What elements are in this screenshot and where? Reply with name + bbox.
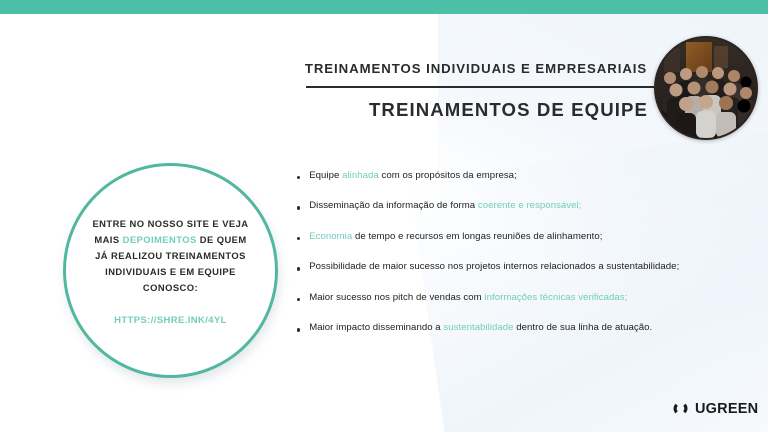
bullet-dot-icon <box>297 206 300 209</box>
bullet-dot-icon <box>297 267 300 270</box>
list-item: Possibilidade de maior sucesso nos proje… <box>297 261 722 273</box>
cta-line-2-pre: MAIS <box>94 234 122 245</box>
benefits-list: Equipe alinhada com os propósitos da emp… <box>297 170 722 353</box>
list-item-pre: Equipe <box>309 170 342 181</box>
brand-logo: UGREEN <box>671 399 758 418</box>
cta-line-1: ENTRE NO NOSSO SITE E VEJA <box>92 216 248 232</box>
cta-line-5: CONOSCO: <box>92 280 248 296</box>
list-item: Disseminação da informação de forma coer… <box>297 200 722 212</box>
bullet-dot-icon <box>297 328 300 331</box>
cta-line-3: JÁ REALIZOU TREINAMENTOS <box>92 248 248 264</box>
list-item-text: Economia de tempo e recursos em longas r… <box>309 231 602 243</box>
list-item-text: Possibilidade de maior sucesso nos proje… <box>309 261 679 273</box>
cta-circle: ENTRE NO NOSSO SITE E VEJA MAIS DEPOIMEN… <box>63 163 278 378</box>
list-item-highlight: sustentabilidade <box>443 322 513 333</box>
list-item-pre: Disseminação da informação de forma <box>309 200 478 211</box>
ugreen-ring-icon <box>671 399 690 418</box>
list-item-highlight: alinhada <box>342 170 379 181</box>
top-accent-bar <box>0 0 768 14</box>
cta-line-2-highlight: DEPOIMENTOS <box>123 234 197 245</box>
brand-name: UGREEN <box>695 401 758 417</box>
cta-line-4: INDIVIDUAIS E EM EQUIPE <box>92 264 248 280</box>
cta-text: ENTRE NO NOSSO SITE E VEJA MAIS DEPOIMEN… <box>92 216 248 297</box>
list-item-text: Maior impacto disseminando a sustentabil… <box>309 322 652 334</box>
bullet-dot-icon <box>297 176 300 179</box>
list-item-highlight: Economia <box>309 231 352 242</box>
list-item-pre: Maior impacto disseminando a <box>309 322 443 333</box>
bullet-dot-icon <box>297 298 300 301</box>
list-item: Maior impacto disseminando a sustentabil… <box>297 322 722 334</box>
heading-divider <box>306 86 658 88</box>
list-item-text: Disseminação da informação de forma coer… <box>309 200 581 212</box>
page-title: TREINAMENTOS DE EQUIPE <box>292 99 660 121</box>
list-item-post: dentro de sua linha de atuação. <box>514 322 653 333</box>
team-photo-image <box>656 38 756 138</box>
list-item: Equipe alinhada com os propósitos da emp… <box>297 170 722 182</box>
bullet-dot-icon <box>297 237 300 240</box>
list-item-post: com os propósitos da empresa; <box>379 170 517 181</box>
heading-block: TREINAMENTOS INDIVIDUAIS E EMPRESARIAIS … <box>292 62 660 121</box>
list-item-post: de tempo e recursos em longas reuniões d… <box>352 231 602 242</box>
cta-line-2-post: DE QUEM <box>197 234 247 245</box>
list-item-text: Equipe alinhada com os propósitos da emp… <box>309 170 517 182</box>
list-item-pre: Possibilidade de maior sucesso nos proje… <box>309 261 679 272</box>
list-item-highlight: coerente e responsável; <box>478 200 582 211</box>
list-item: Economia de tempo e recursos em longas r… <box>297 231 722 243</box>
list-item-text: Maior sucesso nos pitch de vendas com in… <box>309 292 627 304</box>
list-item: Maior sucesso nos pitch de vendas com in… <box>297 292 722 304</box>
team-photo-circle <box>654 36 758 140</box>
page-subtitle: TREINAMENTOS INDIVIDUAIS E EMPRESARIAIS <box>292 62 660 77</box>
list-item-highlight: informações técnicas verificadas; <box>484 292 627 303</box>
slide-canvas: TREINAMENTOS INDIVIDUAIS E EMPRESARIAIS … <box>0 0 768 432</box>
cta-line-2: MAIS DEPOIMENTOS DE QUEM <box>92 232 248 248</box>
cta-url-link[interactable]: HTTPS://SHRE.INK/4YL <box>114 314 227 325</box>
list-item-pre: Maior sucesso nos pitch de vendas com <box>309 292 484 303</box>
